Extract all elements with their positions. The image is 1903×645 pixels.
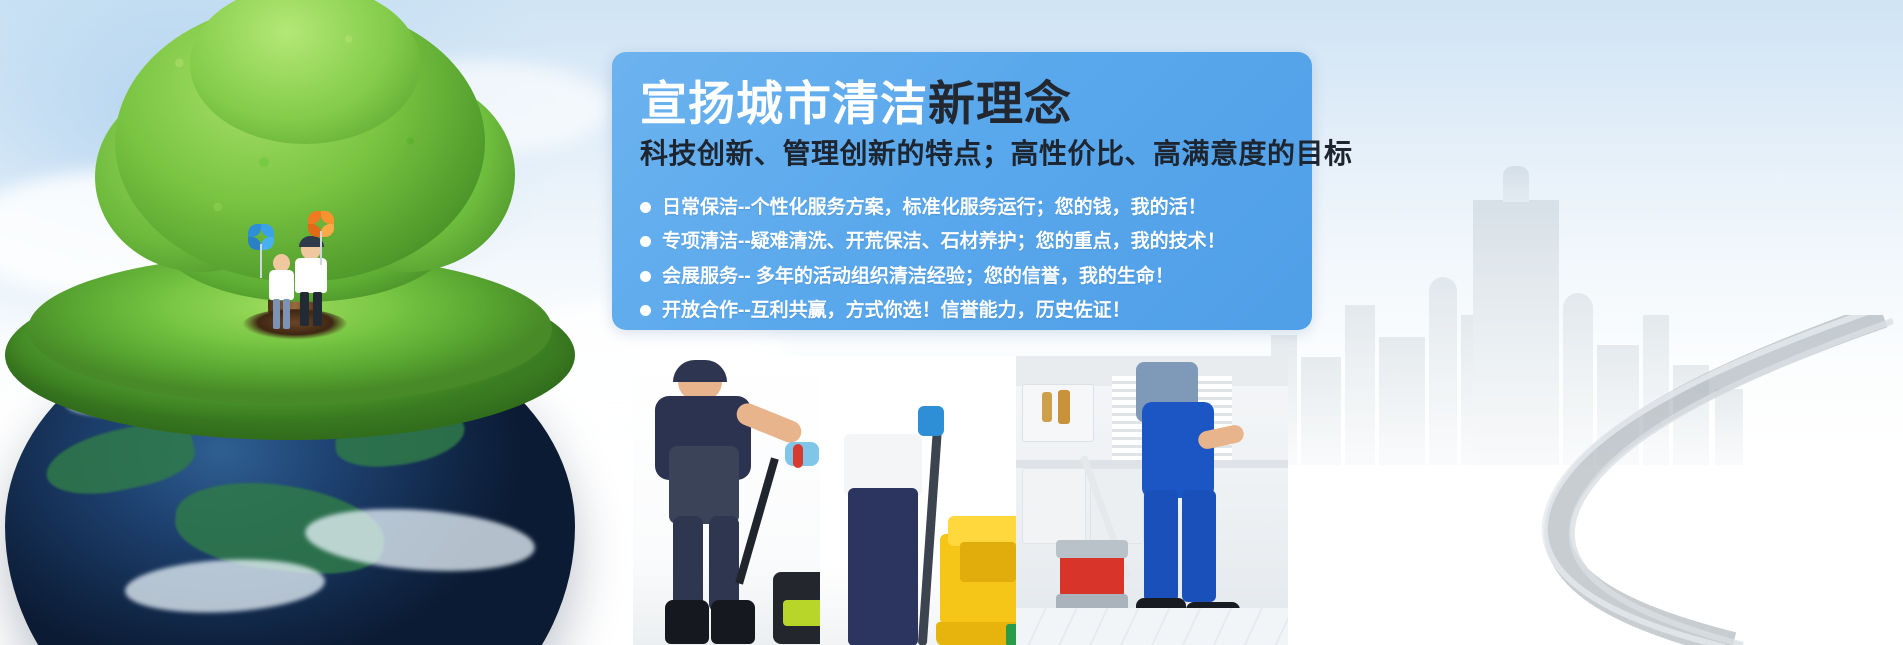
list-item-label: 专项清洁--疑难清洗、开荒保洁、石材养护；您的重点，我的技术！ (662, 227, 1226, 256)
globe-tree-artwork (0, 0, 600, 645)
list-item: 日常保洁--个性化服务方案，标准化服务运行；您的钱，我的活！ (640, 193, 1294, 222)
bullet-dot-icon (640, 305, 651, 316)
list-item: 会展服务-- 多年的活动组织清洁经验；您的信誉，我的生命！ (640, 262, 1294, 291)
pinwheel-blue (248, 224, 274, 250)
bullet-dot-icon (640, 271, 651, 282)
list-item: 开放合作--互利共赢，方式你选！信誉能力，历史佐证！ (640, 296, 1294, 325)
page-subtitle: 科技创新、管理创新的特点；高性价比、高满意度的目标 (640, 136, 1294, 171)
list-item: 专项清洁--疑难清洗、开荒保洁、石材养护；您的重点，我的技术！ (640, 227, 1294, 256)
service-photo-strip (633, 356, 1288, 645)
bullet-dot-icon (640, 236, 651, 247)
headline-rest: 新理念 (928, 77, 1072, 130)
curved-road-graphic (1263, 315, 1903, 645)
page-title: 宣扬城市清洁新理念 (640, 78, 1294, 130)
list-item-label: 日常保洁--个性化服务方案，标准化服务运行；您的钱，我的活！ (662, 193, 1207, 222)
list-item-label: 开放合作--互利共赢，方式你选！信誉能力，历史佐证！ (662, 296, 1131, 325)
promo-callout-card: 宣扬城市清洁新理念 科技创新、管理创新的特点；高性价比、高满意度的目标 日常保洁… (612, 52, 1312, 330)
photo-worker-mopping-kitchen (1016, 356, 1288, 645)
list-item-label: 会展服务-- 多年的活动组织清洁经验；您的信誉，我的生命！ (662, 262, 1174, 291)
service-bullet-list: 日常保洁--个性化服务方案，标准化服务运行；您的钱，我的活！ 专项清洁--疑难清… (640, 193, 1294, 326)
bullet-dot-icon (640, 202, 651, 213)
headline-highlight: 宣扬城市清洁 (640, 77, 928, 130)
pinwheel-orange (308, 211, 334, 237)
cleaning-service-banner: 宣扬城市清洁新理念 科技创新、管理创新的特点；高性价比、高满意度的目标 日常保洁… (0, 0, 1903, 645)
